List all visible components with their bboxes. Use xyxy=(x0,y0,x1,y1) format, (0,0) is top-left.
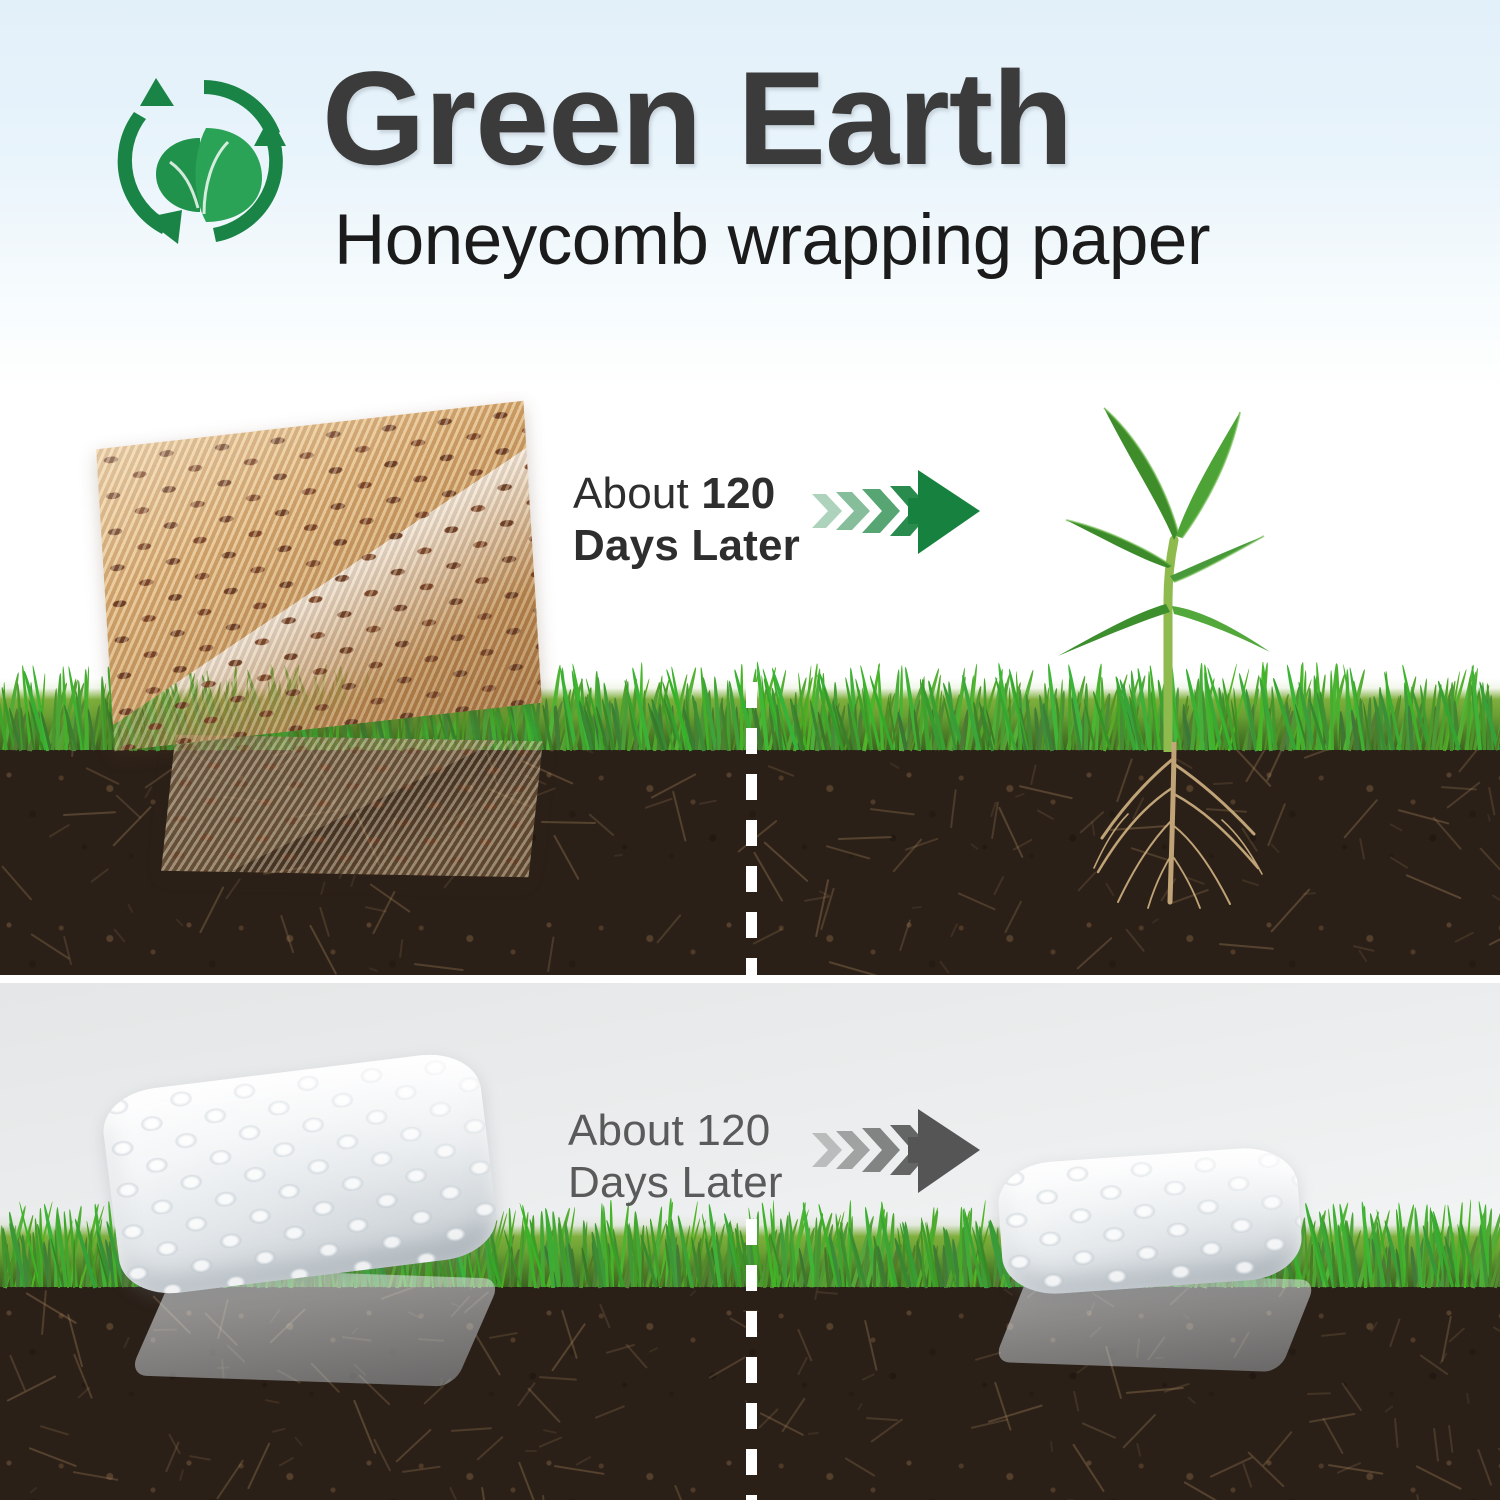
caption-line2: Days Later xyxy=(573,520,800,572)
divider-dashed-bottom xyxy=(746,1219,757,1500)
recycle-leaves-logo xyxy=(104,62,304,262)
caption-bottom: About 120 Days Later xyxy=(568,1105,783,1209)
green-progress-arrow xyxy=(812,462,990,560)
honeycomb-panel: About 120 Days Later xyxy=(0,390,1500,975)
brand-subtitle: Honeycomb wrapping paper xyxy=(334,198,1500,284)
caption-days-value: 120 xyxy=(701,469,775,518)
brand-title: Green Earth xyxy=(322,46,1500,192)
plant-stem xyxy=(1168,540,1174,752)
honeycomb-kraft-paper xyxy=(96,401,542,752)
divider-dashed-top xyxy=(746,682,757,975)
brand-row: Green Earth Honeycomb wrapping paper xyxy=(96,46,1416,296)
caption-prefix-2: About xyxy=(568,1106,696,1155)
title-block: Green Earth Honeycomb wrapping paper xyxy=(322,46,1500,284)
caption-days-value-2: 120 xyxy=(696,1106,770,1155)
infographic-page: Green Earth Honeycomb wrapping paper xyxy=(0,0,1500,1500)
honeycomb-paper-buried xyxy=(161,735,543,877)
plastic-bubble-wrap-right xyxy=(996,1145,1304,1298)
gray-progress-arrow xyxy=(812,1101,990,1199)
sprouting-seedling xyxy=(1018,390,1348,752)
bubble-wrap-panel: About 120 Days Later xyxy=(0,983,1500,1500)
caption-line2-bottom: Days Later xyxy=(568,1157,783,1209)
caption-top: About 120 Days Later xyxy=(573,468,800,572)
header-banner: Green Earth Honeycomb wrapping paper xyxy=(0,0,1500,390)
plant-roots xyxy=(1062,742,1312,910)
caption-prefix: About xyxy=(573,469,701,518)
